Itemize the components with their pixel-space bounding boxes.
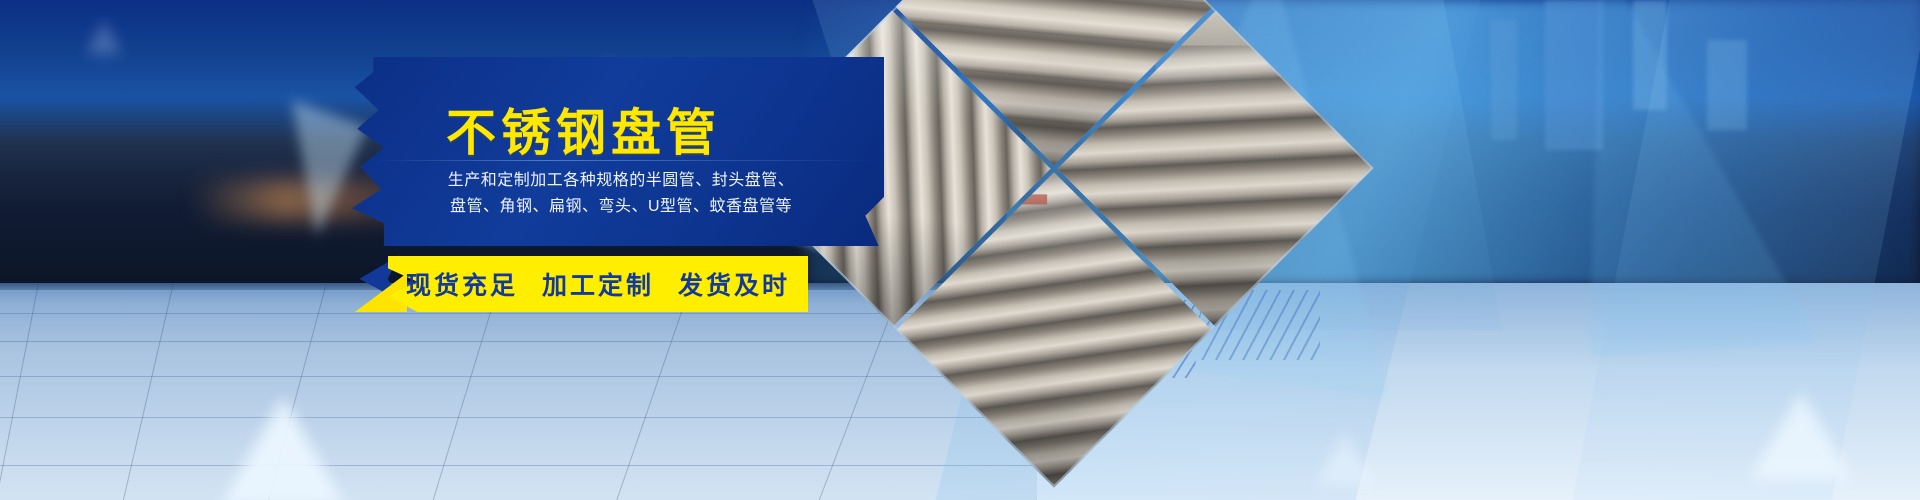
- subtitle-block: 生产和定制加工各种规格的半圆管、封头盘管、 盘管、角钢、扁钢、弯头、U型管、蚊香…: [406, 168, 836, 220]
- subtitle-line-2: 盘管、角钢、扁钢、弯头、U型管、蚊香盘管等: [406, 194, 836, 220]
- decorative-triangle: [221, 397, 345, 500]
- decorative-triangle: [86, 20, 122, 54]
- highlight-ribbon-text: 现货充足 加工定制 发货及时: [388, 256, 808, 312]
- page-title: 不锈钢盘管: [446, 93, 721, 165]
- building-silhouette: [1491, 20, 1517, 140]
- highlight-item-1: 现货充足: [406, 266, 518, 302]
- highlight-item-2: 加工定制: [542, 266, 654, 302]
- product-hero-banner: 不锈钢盘管 生产和定制加工各种规格的半圆管、封头盘管、 盘管、角钢、扁钢、弯头、…: [0, 0, 1920, 500]
- highlight-item-3: 发货及时: [678, 266, 790, 302]
- decorative-triangle: [1315, 433, 1375, 485]
- decorative-triangle: [1749, 392, 1853, 480]
- subtitle-line-1: 生产和定制加工各种规格的半圆管、封头盘管、: [448, 172, 795, 189]
